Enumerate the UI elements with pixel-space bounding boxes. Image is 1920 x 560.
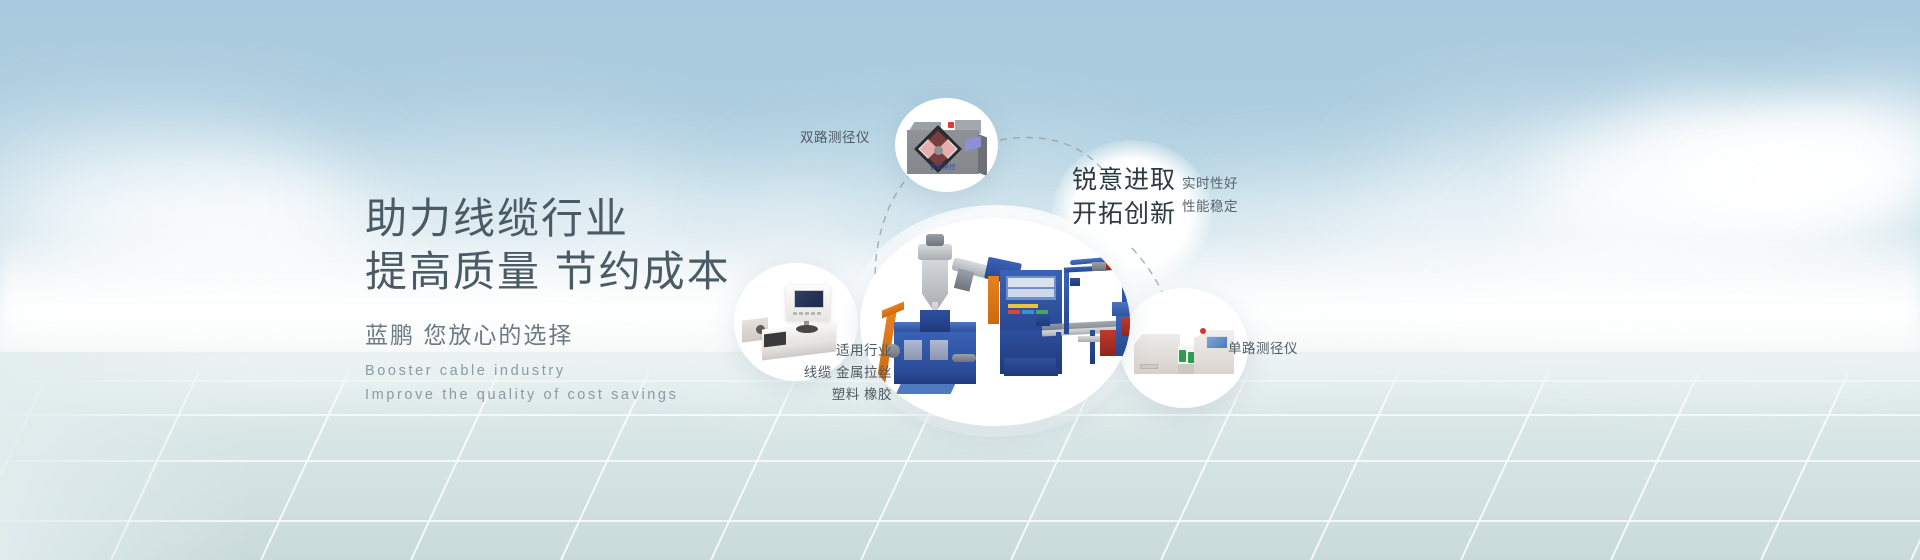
slogan-line-2: 开拓创新 <box>1072 197 1176 231</box>
dual-gauge-device: 蓝鹏测控 <box>903 116 991 182</box>
slogan: 锐意进取 开拓创新 <box>1072 163 1176 231</box>
label-dual-gauge: 双路测径仪 <box>800 127 870 149</box>
label-applicable-industry: 适用行业 线缆 金属拉丝 塑料 橡胶 <box>728 340 892 406</box>
indicator-lamp-icon <box>1200 328 1206 334</box>
feature-list: 实时性好 性能稳定 <box>1182 172 1238 218</box>
console-buttons <box>793 312 821 315</box>
industry-line-1: 线缆 金属拉丝 <box>728 362 892 384</box>
product-diagram: 蓝鹏测控 <box>700 0 1920 560</box>
industry-line-2: 塑料 橡胶 <box>728 384 892 406</box>
slogan-line-1: 锐意进取 <box>1072 163 1176 197</box>
feature-line-2: 性能稳定 <box>1182 195 1238 218</box>
feature-line-1: 实时性好 <box>1182 172 1238 195</box>
green-module-icon <box>1188 352 1195 363</box>
bubble-extrusion-line <box>860 218 1130 426</box>
green-module-icon <box>1179 350 1186 362</box>
indicator-lamp-icon <box>948 122 954 128</box>
industry-title: 适用行业 <box>728 340 892 362</box>
floor-left-fade <box>0 352 250 560</box>
extrusion-line-illustration <box>860 218 1130 426</box>
console-screen <box>794 290 824 308</box>
label-single-gauge: 单路测径仪 <box>1228 338 1298 360</box>
gauge-screen <box>1206 336 1228 349</box>
hero-banner: 助力线缆行业 提高质量 节约成本 蓝鹏 您放心的选择 Booster cable… <box>0 0 1920 560</box>
device-brand-text: 蓝鹏测控 <box>917 162 969 171</box>
bubble-dual-gauge: 蓝鹏测控 <box>895 98 998 192</box>
